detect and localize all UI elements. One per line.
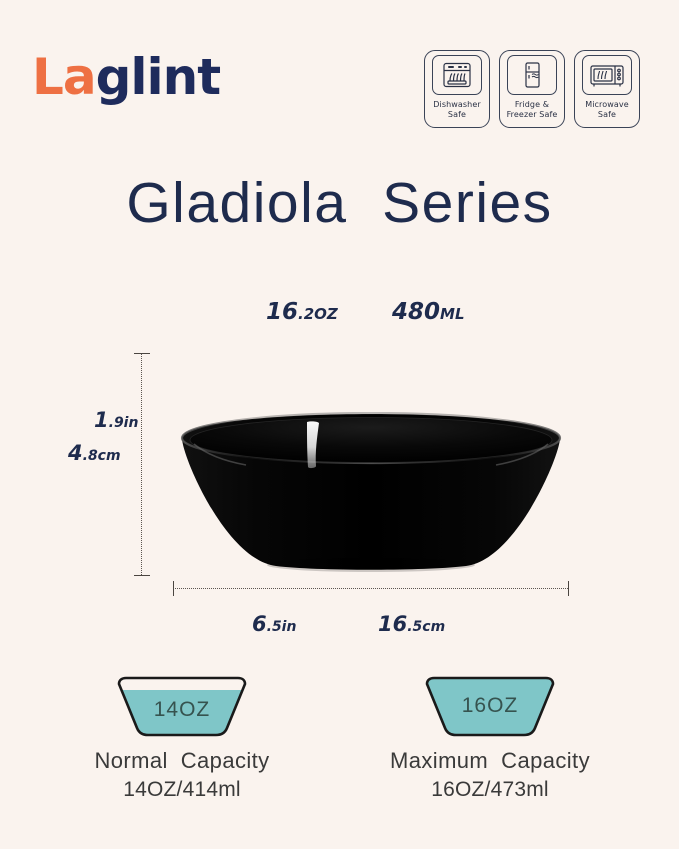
capacity-maximum-subtitle: 16OZ/473ml xyxy=(340,778,640,802)
volume-ml-unit: ML xyxy=(440,305,465,323)
badge-fridge-freezer-safe: Fridge & Freezer Safe xyxy=(499,50,565,128)
badge-microwave-safe: Microwave Safe xyxy=(574,50,640,128)
height-cm-unit: .8cm xyxy=(83,448,121,464)
height-cm-label: 4.8cm xyxy=(68,441,121,465)
capacity-normal-title: Normal Capacity xyxy=(32,748,332,774)
dishwasher-icon xyxy=(432,55,482,95)
brand-logo-prefix: La xyxy=(32,48,96,106)
badge-fridge-freezer-label: Fridge & Freezer Safe xyxy=(505,100,560,120)
volume-oz-unit: .2OZ xyxy=(298,305,338,323)
capacity-normal-panel: 14OZ Normal Capacity 14OZ/414ml xyxy=(32,676,332,802)
microwave-icon xyxy=(582,55,632,95)
height-cm-value: 4 xyxy=(68,441,83,465)
width-cm-label: 16.5cm xyxy=(378,612,445,636)
height-inches-unit: .9in xyxy=(109,415,139,431)
height-dimension-line xyxy=(141,353,142,575)
height-dimension-cap-top xyxy=(134,353,150,354)
width-inches-label: 6.5in xyxy=(252,612,296,636)
badge-microwave-label: Microwave Safe xyxy=(583,100,631,120)
capacity-maximum-panel: 16OZ Maximum Capacity 16OZ/473ml xyxy=(340,676,640,802)
volume-ml-label: 480ML xyxy=(392,299,465,325)
width-dimension-line xyxy=(173,588,568,589)
brand-logo-suffix: glint xyxy=(96,48,221,106)
bowl-shadow xyxy=(267,558,475,572)
capacity-maximum-icon: 16OZ xyxy=(415,676,565,738)
capacity-maximum-title: Maximum Capacity xyxy=(340,748,640,774)
width-inches-unit: .5in xyxy=(267,619,297,635)
safety-badge-group: Dishwasher Safe Fridge & Freezer Safe xyxy=(424,50,640,128)
height-inches-value: 1 xyxy=(94,408,109,432)
width-dimension-cap-left xyxy=(173,581,174,596)
capacity-normal-badge-text: 14OZ xyxy=(154,698,211,721)
capacity-maximum-badge-text: 16OZ xyxy=(462,694,519,717)
volume-ml-value: 480 xyxy=(392,299,440,325)
fridge-freezer-icon xyxy=(507,55,557,95)
page-title: Gladiola Series xyxy=(0,170,679,236)
width-dimension-cap-right xyxy=(568,581,569,596)
product-infographic: Laglint Dishwasher Safe xyxy=(0,0,679,849)
volume-oz-label: 16.2OZ xyxy=(266,299,338,325)
width-cm-unit: .5cm xyxy=(407,619,445,635)
brand-logo: Laglint xyxy=(32,52,220,102)
product-image-black-bowl xyxy=(176,412,566,572)
badge-dishwasher-label: Dishwasher Safe xyxy=(431,100,483,120)
capacity-normal-icon: 14OZ xyxy=(107,676,257,738)
width-cm-value: 16 xyxy=(378,612,407,636)
volume-oz-value: 16 xyxy=(266,299,298,325)
capacity-normal-subtitle: 14OZ/414ml xyxy=(32,778,332,802)
height-inches-label: 1.9in xyxy=(94,408,138,432)
badge-dishwasher-safe: Dishwasher Safe xyxy=(424,50,490,128)
width-inches-value: 6 xyxy=(252,612,267,636)
height-dimension-cap-bottom xyxy=(134,575,150,576)
